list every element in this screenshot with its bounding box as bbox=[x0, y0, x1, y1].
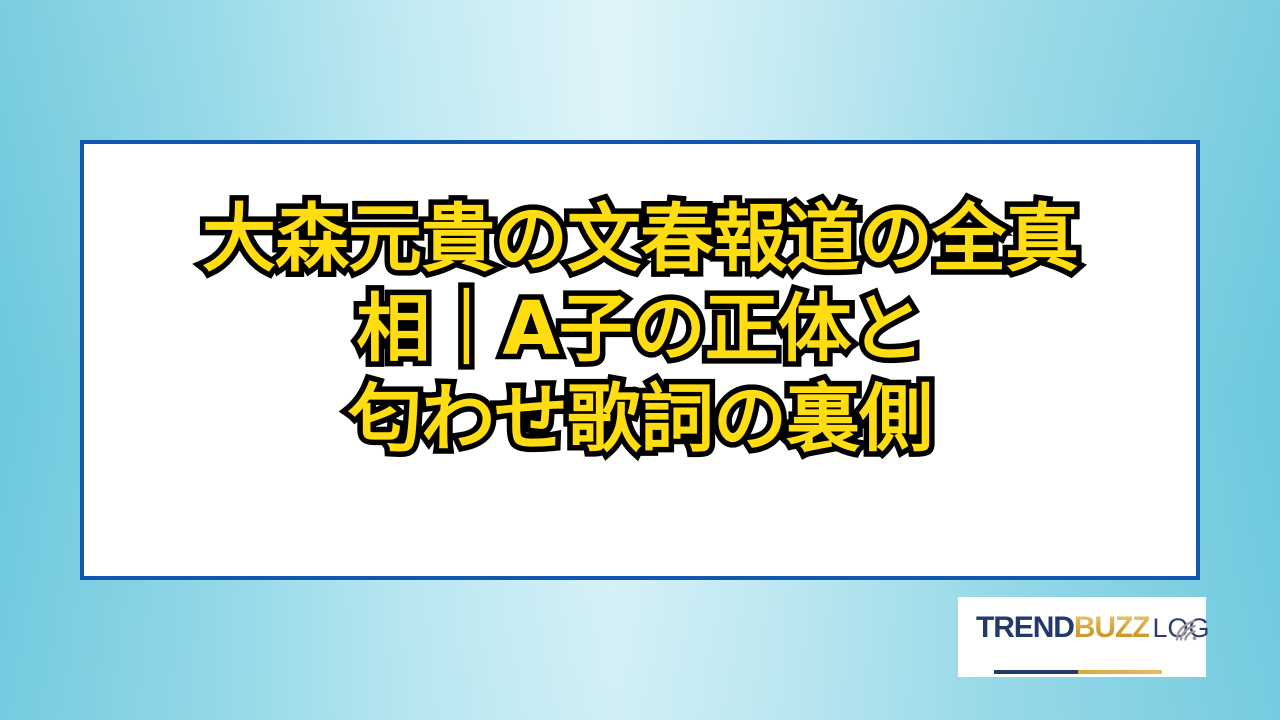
title-line-1: 大森元貴の文春報道の全真 bbox=[84, 194, 1196, 284]
logo-inner: TREND BUZZ LOG bbox=[976, 613, 1196, 667]
site-logo[interactable]: TREND BUZZ LOG bbox=[958, 597, 1206, 677]
title-line-2: 相｜A子の正体と bbox=[84, 284, 1196, 374]
page-title: 大森元貴の文春報道の全真 相｜A子の正体と 匂わせ歌詞の裏側 bbox=[84, 194, 1196, 464]
logo-wordmark: TREND BUZZ LOG bbox=[976, 613, 1196, 647]
logo-underline-rule bbox=[994, 670, 1162, 674]
thumbnail-canvas: 大森元貴の文春報道の全真 相｜A子の正体と 匂わせ歌詞の裏側 TREND BUZ… bbox=[0, 0, 1280, 720]
logo-text-buzz: BUZZ bbox=[1074, 613, 1150, 643]
logo-text-trend: TREND bbox=[976, 613, 1074, 643]
title-line-3: 匂わせ歌詞の裏側 bbox=[84, 374, 1196, 464]
title-card: 大森元貴の文春報道の全真 相｜A子の正体と 匂わせ歌詞の裏側 bbox=[80, 140, 1200, 580]
wifi-dot-icon bbox=[1193, 636, 1197, 640]
wifi-signal-icon bbox=[1174, 618, 1200, 642]
